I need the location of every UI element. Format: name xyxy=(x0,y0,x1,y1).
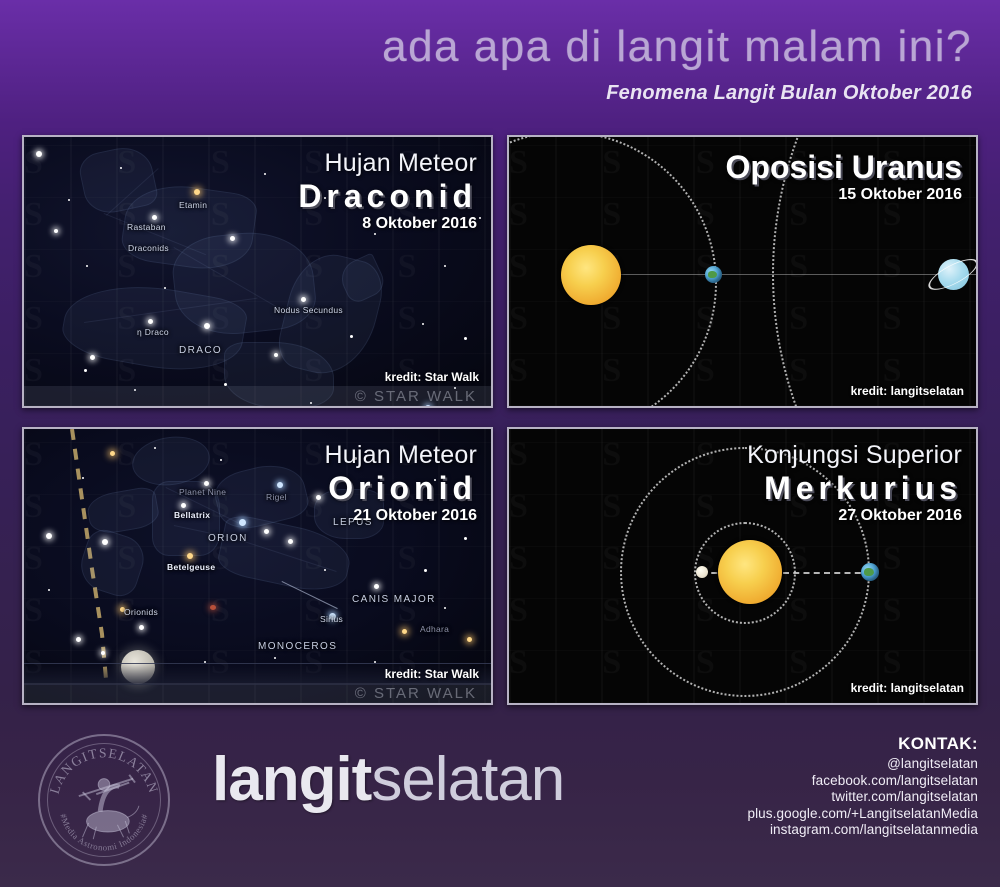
star-dust-1 xyxy=(68,199,70,201)
mercury-body xyxy=(696,566,708,578)
star-rastaban xyxy=(152,215,157,220)
contact-facebook[interactable]: facebook.com/langitselatan xyxy=(747,773,978,790)
label-bellatrix: Bellatrix xyxy=(174,510,210,520)
star-nodus-secundus xyxy=(301,297,306,302)
contact-googleplus[interactable]: plus.google.com/+LangitselatanMedia xyxy=(747,806,978,823)
sagittarius-centaur-icon xyxy=(79,775,139,839)
star-lower-1 xyxy=(76,637,81,642)
orion-nebula xyxy=(210,605,216,610)
star-dust-5 xyxy=(374,233,376,235)
label-draconids: Draconids xyxy=(128,243,169,253)
star-o-dust-10 xyxy=(324,569,326,571)
sun-body xyxy=(561,245,621,305)
panel-orionid[interactable]: S S S S S S S S S SS S S S S S S S S SS … xyxy=(22,427,493,705)
label-eta-draco: η Draco xyxy=(137,327,169,337)
star-o-dust-13 xyxy=(444,607,446,609)
star-o-dust-2 xyxy=(220,459,222,461)
star-rigel xyxy=(277,482,283,488)
contact-instagram-handle[interactable]: @langitselatan xyxy=(747,756,978,773)
star-orionids-radiant xyxy=(139,625,144,630)
star-right-amber xyxy=(467,637,472,642)
earth-body-merkurius xyxy=(861,563,879,581)
panel-title-uranus-main: Oposisi Uranus xyxy=(726,149,963,186)
panel-title-orionid: Hujan Meteor Orionid 21 Oktober 2016 xyxy=(325,441,477,525)
sun-body-merkurius xyxy=(718,540,782,604)
contact-heading: KONTAK: xyxy=(747,734,978,754)
star-dust-15 xyxy=(164,287,166,289)
panel-title-merkurius: Konjungsi Superior Merkurius 27 Oktober … xyxy=(747,441,962,525)
star-planet-nine xyxy=(204,481,209,486)
panel-date-merkurius: 27 Oktober 2016 xyxy=(747,507,962,525)
panel-date-orionid: 21 Oktober 2016 xyxy=(325,507,477,525)
starwalk-watermark-bar-orionid: © STAR WALK xyxy=(24,683,491,703)
label-canis-major: CANIS MAJOR xyxy=(352,594,436,605)
brand-light: selatan xyxy=(371,745,564,814)
star-dust-13 xyxy=(350,335,353,338)
star-dust-6 xyxy=(444,265,446,267)
star-o-dust-6 xyxy=(424,569,427,572)
label-orion: ORION xyxy=(208,533,248,544)
star-left-bright-2 xyxy=(102,539,108,545)
panel-credit-draconid: kredit: Star Walk xyxy=(385,370,479,384)
langitselatan-logo[interactable]: LANGITSELATAN #Media Astronomi Indonesia… xyxy=(38,734,170,866)
starwalk-watermark-bar: © STAR WALK xyxy=(24,386,491,406)
star-etamin xyxy=(194,189,200,195)
star-dust-14 xyxy=(422,323,424,325)
star-orion-belt-1 xyxy=(239,519,246,526)
star-lower-2 xyxy=(101,651,105,655)
star-o-dust-5 xyxy=(464,537,467,540)
panel-date-uranus: 15 Oktober 2016 xyxy=(726,186,963,204)
panel-title-merkurius-line1: Konjungsi Superior xyxy=(747,441,962,470)
starwalk-watermark-text-orionid: © STAR WALK xyxy=(355,685,477,702)
label-planet-nine: Planet Nine xyxy=(179,487,226,497)
star-bellatrix xyxy=(181,503,186,508)
panel-credit-uranus: kredit: langitselatan xyxy=(851,384,964,398)
panel-title-draconid: Hujan Meteor Draconid 8 Oktober 2016 xyxy=(298,149,477,233)
label-orionids: Orionids xyxy=(124,607,158,617)
page-subtitle: Fenomena Langit Bulan Oktober 2016 xyxy=(606,82,972,105)
contact-instagram[interactable]: instagram.com/langitselatanmedia xyxy=(747,822,978,839)
label-adhara: Adhara xyxy=(420,624,449,634)
label-sirius: Sirius xyxy=(320,614,343,624)
star-canis-1 xyxy=(374,584,379,589)
panel-title-orionid-line1: Hujan Meteor xyxy=(325,441,477,470)
star-dust-17 xyxy=(90,355,95,360)
star-orion-belt-3 xyxy=(288,539,293,544)
page-footer: LANGITSELATAN #Media Astronomi Indonesia… xyxy=(0,712,1000,887)
star-betelgeuse xyxy=(187,553,193,559)
star-left-1 xyxy=(54,229,58,233)
label-rigel: Rigel xyxy=(266,492,287,502)
label-etamin: Etamin xyxy=(179,200,207,210)
brand-wordmark: langitselatan xyxy=(212,744,564,815)
label-nodus-secundus: Nodus Secundus xyxy=(274,305,343,315)
earth-body xyxy=(705,266,722,283)
star-o-dust-8 xyxy=(274,657,276,659)
star-adhara xyxy=(402,629,407,634)
panel-title-orionid-line2: Orionid xyxy=(325,470,477,507)
panel-date: 8 Oktober 2016 xyxy=(298,215,477,233)
star-draconids xyxy=(230,236,235,241)
star-orion-belt-2 xyxy=(264,529,269,534)
star-o-dust-12 xyxy=(48,589,50,591)
panel-credit-merkurius: kredit: langitselatan xyxy=(851,681,964,695)
star-lepus-1 xyxy=(316,495,321,500)
panel-merkurius[interactable]: S S S S S S S S S SS S S S S S S S S SS … xyxy=(507,427,978,705)
label-draco: DRACO xyxy=(179,345,222,356)
panel-draconid[interactable]: S S S S S S S S S SS S S S S S S S S SS … xyxy=(22,135,493,408)
star-draco-mid xyxy=(204,323,210,329)
star-dust-9 xyxy=(84,369,87,372)
star-corner-bright xyxy=(36,151,42,157)
star-left-bright-1 xyxy=(46,533,52,539)
logo-artwork: LANGITSELATAN #Media Astronomi Indonesia… xyxy=(40,736,168,864)
page-header: ada apa di langit malam ini? Fenomena La… xyxy=(0,0,1000,120)
label-rastaban: Rastaban xyxy=(127,222,166,232)
uranus-body-group xyxy=(938,259,969,290)
star-amber-top xyxy=(110,451,115,456)
star-dust-2 xyxy=(120,167,122,169)
contact-block: KONTAK: @langitselatan facebook.com/lang… xyxy=(747,734,978,839)
panel-title-merkurius-line2: Merkurius xyxy=(747,470,962,507)
opposition-sightline xyxy=(589,274,978,275)
panel-title-uranus: Oposisi Uranus 15 Oktober 2016 xyxy=(726,149,963,204)
label-betelgeuse: Betelgeuse xyxy=(167,562,215,572)
star-eta-draco xyxy=(148,319,153,324)
panel-title-line1: Hujan Meteor xyxy=(298,149,477,178)
contact-twitter[interactable]: twitter.com/langitselatan xyxy=(747,789,978,806)
star-dust-8 xyxy=(479,217,481,219)
star-dust-7 xyxy=(464,337,467,340)
page-title: ada apa di langit malam ini? xyxy=(382,22,972,72)
panel-uranus[interactable]: S S S S S S S S S SS S S S S S S S S SS … xyxy=(507,135,978,408)
star-o-dust-1 xyxy=(154,447,156,449)
panel-title-line2: Draconid xyxy=(298,178,477,215)
starwalk-watermark-text: © STAR WALK xyxy=(355,388,477,405)
star-dust-12 xyxy=(274,353,278,357)
star-dust-16 xyxy=(86,265,88,267)
brand-bold: langit xyxy=(212,745,371,814)
star-dust-3 xyxy=(264,173,266,175)
panel-credit-orionid: kredit: Star Walk xyxy=(385,667,479,681)
label-monoceros: MONOCEROS xyxy=(258,641,337,652)
star-o-dust-11 xyxy=(82,477,84,479)
